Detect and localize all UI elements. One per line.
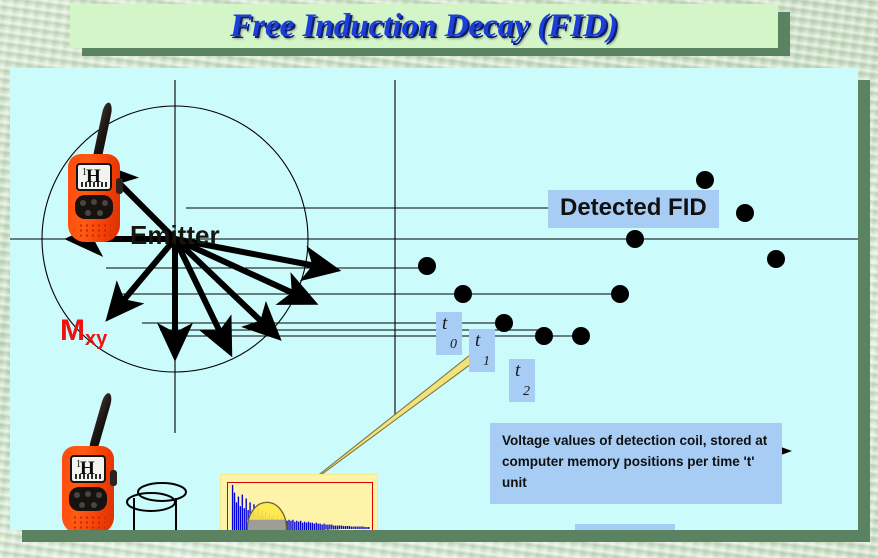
content-panel: 1 H 1 H [10,68,858,530]
keypad [69,487,107,511]
t-index: 0 [450,337,457,352]
radio-display: 1 H [76,163,112,191]
mxy-label: Mxy [60,314,107,351]
side-button [110,470,117,486]
sample-dot [767,250,785,268]
side-button [116,178,123,194]
page-title: Free Induction Decay (FID) [70,4,778,48]
sample-dot [696,171,714,189]
radio-body: 1 H [68,154,120,242]
display-bar [75,474,101,479]
fid-plot-frame [227,482,373,530]
fid-waveform-image [220,474,378,530]
mxy-symbol: M [60,314,85,347]
sample-dot [535,327,553,345]
time-axis-label: time [575,524,675,530]
mxy-subscript: xy [85,328,107,350]
radio-display: 1 H [70,455,106,483]
sample-dot [418,257,436,275]
speaker-grille [72,515,105,530]
time-tag-t2: t 2 [509,359,535,402]
detection-coil-icon [127,483,186,530]
voltage-note: Voltage values of detection coil, stored… [490,423,782,504]
sample-dot [626,230,644,248]
sample-dot [611,285,629,303]
speaker-grille [78,223,111,239]
sample-dot [736,204,754,222]
fid-signal-plot [228,483,372,530]
t-index: 2 [523,384,530,399]
t-symbol: t [515,360,520,381]
sample-dot [495,314,513,332]
slide-root: Free Induction Decay (FID) [0,0,878,558]
keypad [75,195,113,219]
title-box: Free Induction Decay (FID) [70,4,778,48]
mxy-vector [175,239,221,334]
t-index: 1 [483,354,490,369]
radio-body: 1 H [62,446,114,530]
detected-fid-label: Detected FID [548,190,719,228]
t-symbol: t [475,330,480,351]
emitter-label: Emitter [130,220,220,251]
sample-dot [572,327,590,345]
display-bar [81,182,107,187]
time-tag-t0: t 0 [436,312,462,355]
time-tag-t1: t 1 [469,329,495,372]
t-symbol: t [442,313,447,334]
sample-dot [454,285,472,303]
